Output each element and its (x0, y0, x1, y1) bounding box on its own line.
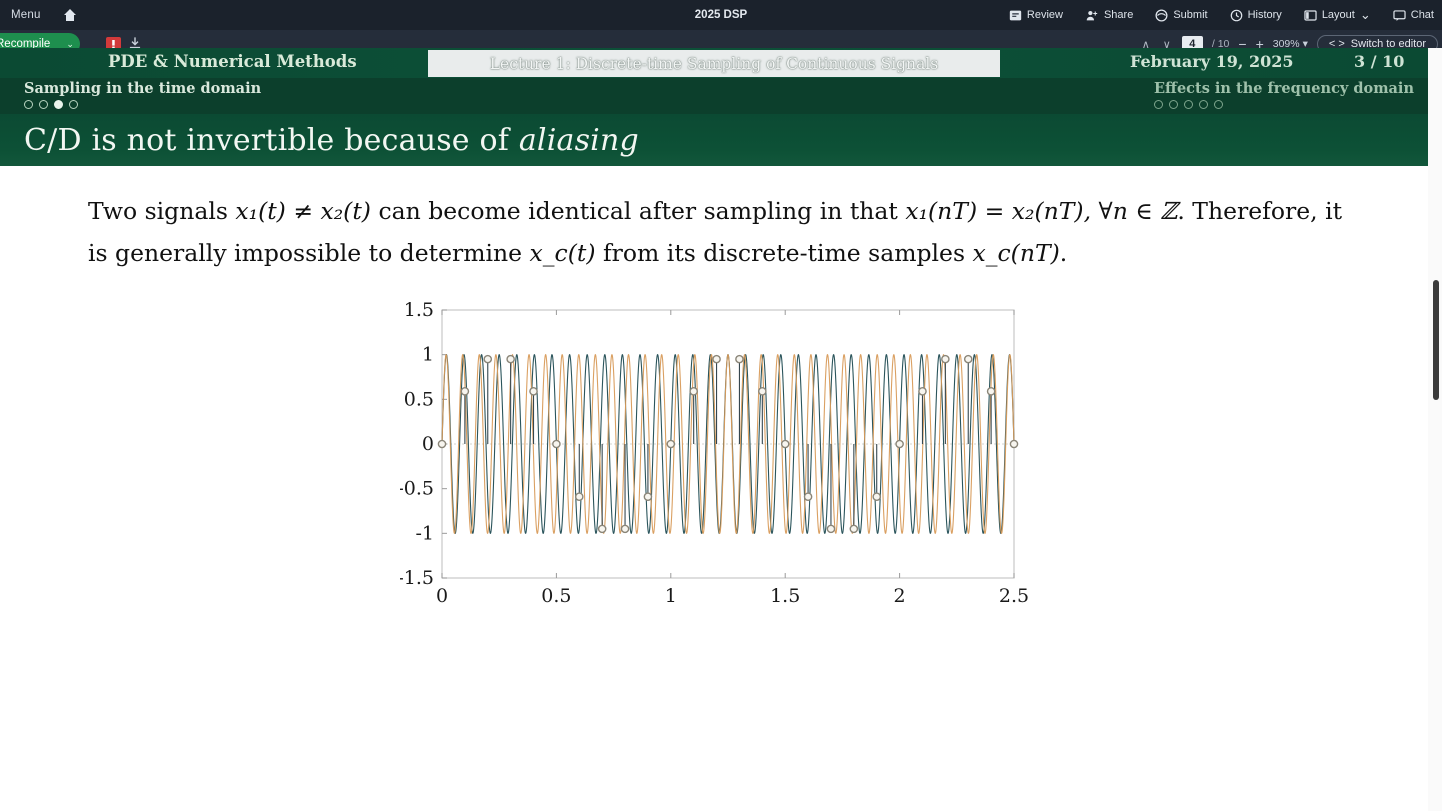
x-tick-label: 1 (665, 585, 677, 607)
history-label: History (1248, 9, 1282, 21)
sample-marker (736, 356, 743, 363)
x-tick-label: 1.5 (770, 585, 800, 607)
body-paragraph: Two signals x₁(t) ≠ x₂(t) can become ide… (88, 190, 1348, 274)
frame-title-bar: C/D is not invertible because of aliasin… (0, 114, 1428, 166)
sample-marker (530, 388, 537, 395)
y-tick-label: -0.5 (400, 478, 434, 500)
y-tick-label: 1 (422, 344, 434, 366)
sample-marker (599, 525, 606, 532)
top-menu-bar: Menu 2025 DSP Review Share (0, 0, 1442, 30)
sample-marker (759, 388, 766, 395)
nav-section-time-domain[interactable]: Sampling in the time domain (24, 80, 261, 109)
slide-body: Two signals x₁(t) ≠ x₂(t) can become ide… (0, 166, 1428, 626)
layout-button[interactable]: Layout ⌄ (1300, 6, 1375, 25)
x-tick-label: 0.5 (541, 585, 571, 607)
nav-dot[interactable] (69, 100, 78, 109)
chat-icon (1393, 9, 1406, 22)
slide-frame-number: 3 / 10 (1354, 52, 1404, 71)
sample-marker (507, 356, 514, 363)
figure-2: 00.511.522.5-1.5-1-0.500.511.5 (0, 296, 1428, 626)
sample-marker (713, 356, 720, 363)
share-label: Share (1104, 9, 1133, 21)
menu-button[interactable]: Menu (6, 6, 46, 24)
sample-marker (782, 440, 789, 447)
sample-marker (644, 493, 651, 500)
history-button[interactable]: History (1226, 6, 1286, 25)
lecture-title-tab: Lecture 1: Discrete-time Sampling of Con… (428, 50, 1000, 77)
chat-button[interactable]: Chat (1389, 6, 1438, 25)
sample-marker (667, 440, 674, 447)
nav-dot[interactable] (24, 100, 33, 109)
sample-marker (576, 493, 583, 500)
history-icon (1230, 9, 1243, 22)
nav-dot[interactable] (54, 100, 63, 109)
slide-date: February 19, 2025 (1130, 52, 1294, 71)
chat-label: Chat (1411, 9, 1434, 21)
nav-subsection-dots (24, 100, 261, 109)
review-button[interactable]: Review (1005, 6, 1067, 25)
sample-marker (827, 525, 834, 532)
sample-marker (850, 525, 857, 532)
sample-marker (988, 388, 995, 395)
y-tick-label: 1.5 (404, 299, 434, 321)
sample-marker (621, 525, 628, 532)
nav-section-label: Sampling in the time domain (24, 80, 261, 97)
sample-marker (690, 388, 697, 395)
nav-subsection-dots (1154, 100, 1414, 109)
x-tick-label: 0 (436, 585, 448, 607)
lecture-title-label: Lecture 1: Discrete-time Sampling of Con… (490, 55, 938, 73)
sample-marker (461, 388, 468, 395)
sample-marker (438, 440, 445, 447)
nav-dot[interactable] (1154, 100, 1163, 109)
sample-marker (896, 440, 903, 447)
nav-dot[interactable] (1199, 100, 1208, 109)
submit-label: Submit (1173, 9, 1207, 21)
nav-section-label: Effects in the frequency domain (1154, 80, 1414, 97)
share-icon (1085, 9, 1099, 22)
beamer-headline: PDE & Numerical Methods Lecture 1: Discr… (0, 48, 1428, 78)
course-title: PDE & Numerical Methods (108, 52, 357, 71)
share-button[interactable]: Share (1081, 6, 1137, 25)
pdf-scrollbar[interactable] (1428, 48, 1442, 811)
sample-marker (942, 356, 949, 363)
submit-button[interactable]: Submit (1151, 6, 1211, 25)
scrollbar-thumb[interactable] (1433, 280, 1439, 400)
chevron-down-icon: ⌄ (1360, 12, 1371, 18)
sample-marker (965, 356, 972, 363)
nav-dot[interactable] (39, 100, 48, 109)
nav-dot[interactable] (1184, 100, 1193, 109)
nav-dot[interactable] (1169, 100, 1178, 109)
review-label: Review (1027, 9, 1063, 21)
nav-section-frequency-domain[interactable]: Effects in the frequency domain (1154, 80, 1414, 109)
y-tick-label: 0.5 (404, 388, 434, 410)
sample-marker (484, 356, 491, 363)
overleaf-window: Menu 2025 DSP Review Share (0, 0, 1442, 811)
y-tick-label: -1.5 (400, 567, 434, 589)
y-tick-label: 0 (422, 433, 434, 455)
sample-marker (1010, 440, 1017, 447)
x-tick-label: 2.5 (999, 585, 1029, 607)
nav-dot[interactable] (1214, 100, 1223, 109)
aliasing-chart: 00.511.522.5-1.5-1-0.500.511.5 (400, 296, 1040, 626)
pdf-slide-page: PDE & Numerical Methods Lecture 1: Discr… (0, 48, 1428, 811)
menu-right-group: Review Share Submit History (1005, 0, 1438, 30)
submit-icon (1155, 9, 1168, 22)
home-icon[interactable] (62, 7, 78, 23)
sample-marker (919, 388, 926, 395)
review-icon (1009, 9, 1022, 22)
layout-label: Layout (1322, 9, 1355, 21)
x-tick-label: 2 (894, 585, 906, 607)
page-title: C/D is not invertible because of aliasin… (24, 123, 639, 158)
sample-marker (873, 493, 880, 500)
beamer-section-nav: Sampling in the time domain Effects in t… (0, 78, 1428, 114)
layout-icon (1304, 9, 1317, 22)
y-tick-label: -1 (415, 522, 434, 544)
sample-marker (804, 493, 811, 500)
sample-marker (553, 440, 560, 447)
